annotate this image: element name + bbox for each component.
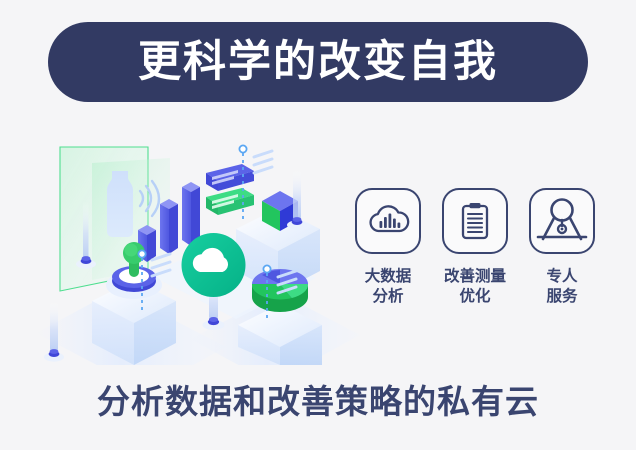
feature-item-big-data[interactable]: 大数据 分析 bbox=[352, 188, 424, 333]
poster-root: 更科学的改变自我 bbox=[0, 0, 636, 450]
page-title: 更科学的改变自我 bbox=[138, 41, 498, 84]
bottle-silhouette bbox=[107, 171, 133, 237]
cloud-bar-chart-icon bbox=[355, 188, 421, 254]
tag-card-green bbox=[206, 188, 254, 215]
tag-card-blue bbox=[206, 164, 254, 191]
clipboard-lines-icon bbox=[442, 188, 508, 254]
support-person-icon bbox=[529, 188, 595, 254]
feature-label: 改善测量 优化 bbox=[444, 267, 506, 308]
feature-item-measurement[interactable]: 改善测量 优化 bbox=[439, 188, 511, 333]
page-tagline: 分析数据和改善策略的私有云 bbox=[0, 385, 636, 418]
feature-item-support[interactable]: 专人 服务 bbox=[526, 188, 598, 333]
feature-label: 大数据 分析 bbox=[365, 267, 412, 308]
header-banner: 更科学的改变自我 bbox=[48, 22, 588, 102]
feature-list: 大数据 分析 改善测量 优化 bbox=[352, 188, 598, 333]
isometric-illustration bbox=[30, 125, 360, 365]
feature-label: 专人 服务 bbox=[546, 267, 577, 308]
